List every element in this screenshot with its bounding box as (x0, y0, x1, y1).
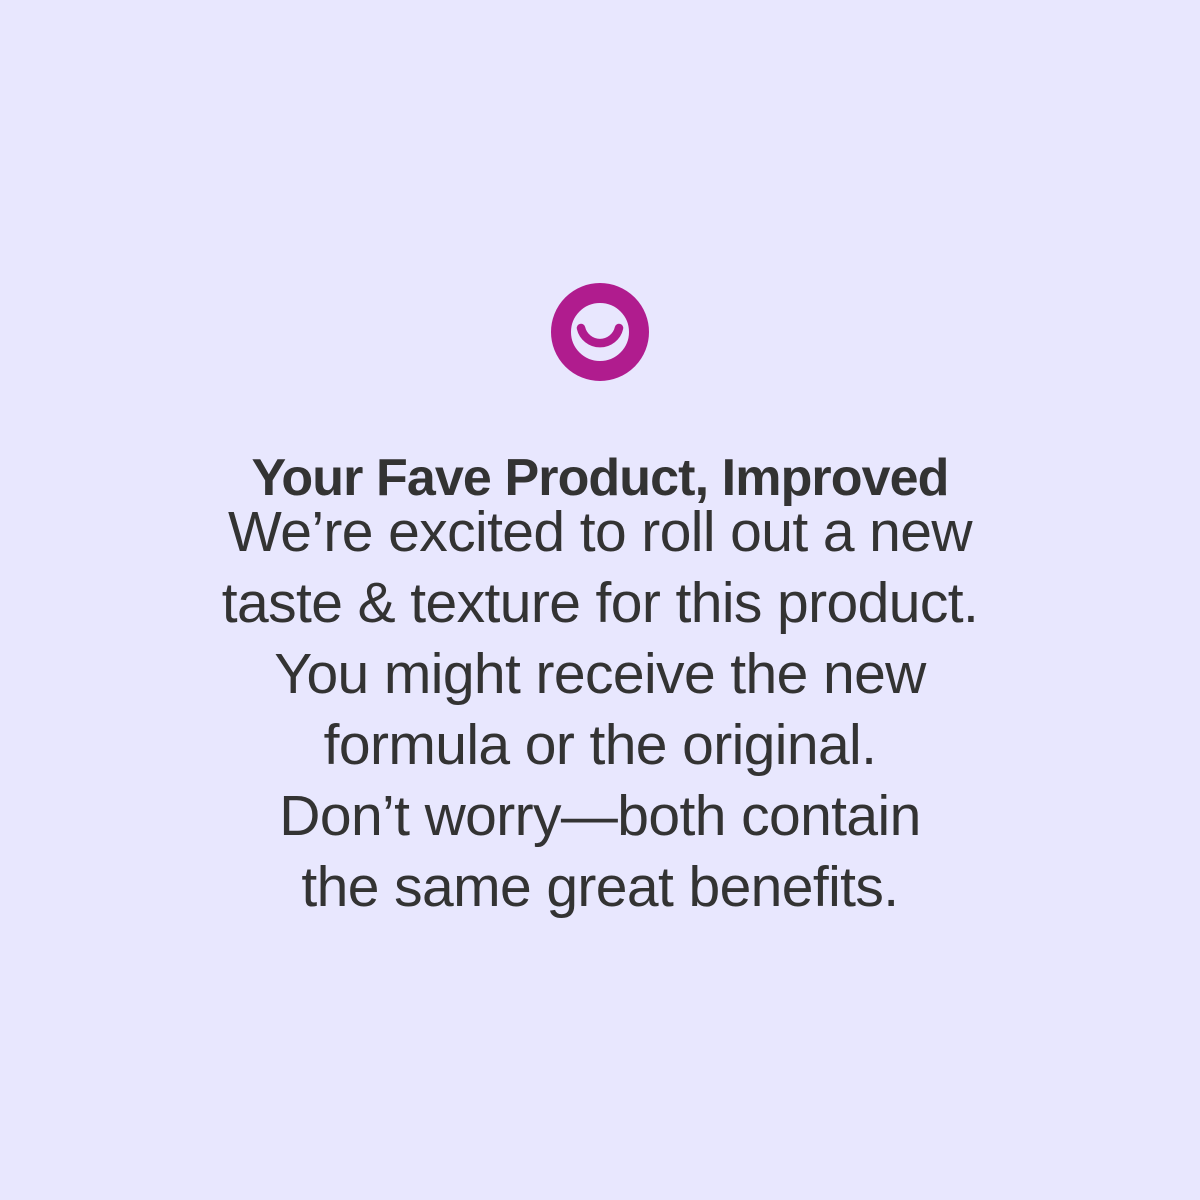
body-line: formula or the original. (0, 710, 1200, 781)
announcement-card: Your Fave Product, Improved We’re excite… (0, 0, 1200, 1200)
body-line: You might receive the new (0, 639, 1200, 710)
announcement-body: We’re excited to roll out a new taste & … (0, 497, 1200, 923)
body-line: We’re excited to roll out a new (0, 497, 1200, 568)
smile-circle-logo (551, 283, 649, 381)
body-line: Don’t worry—both contain (0, 781, 1200, 852)
body-line: taste & texture for this product. (0, 568, 1200, 639)
body-line: the same great benefits. (0, 852, 1200, 923)
